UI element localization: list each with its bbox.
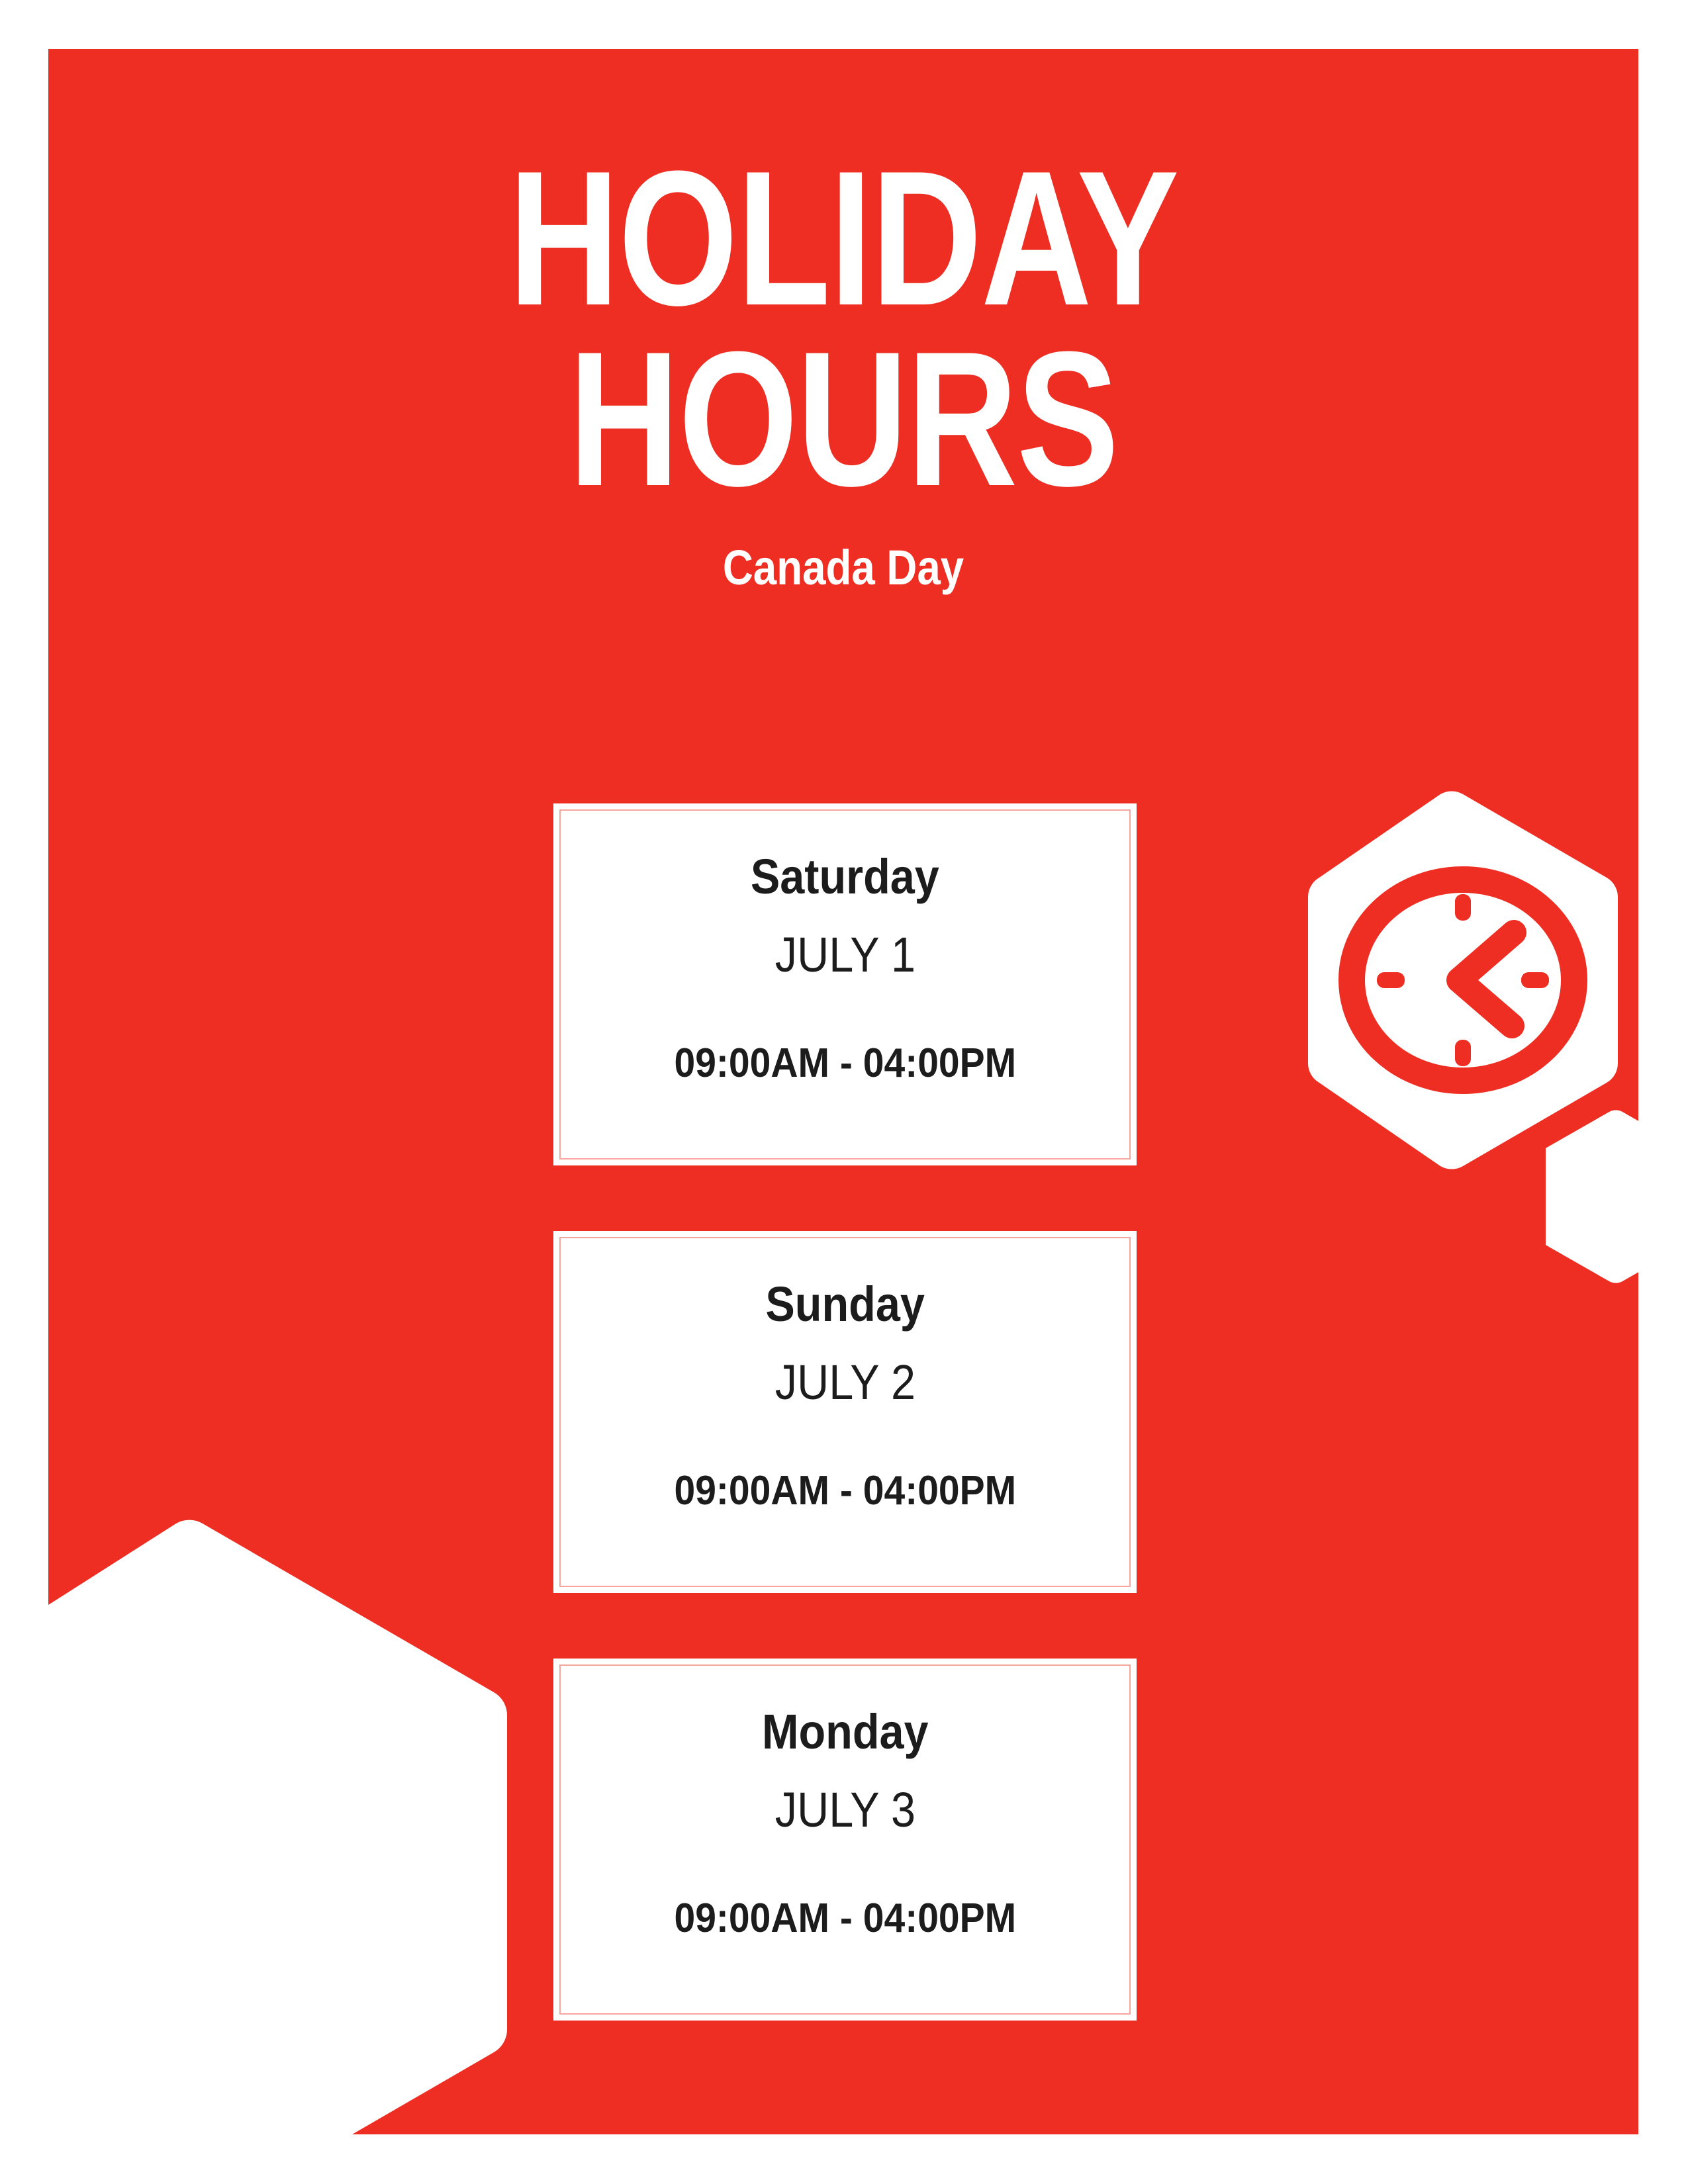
card-day-name: Monday xyxy=(762,1707,929,1756)
card-date: JULY 3 xyxy=(774,1786,915,1835)
card-hours: 09:00AM - 04:00PM xyxy=(674,1898,1016,1939)
poster-panel: HOLIDAY HOURS Canada Day Saturday JULY 1… xyxy=(48,49,1638,2134)
card-day-name: Sunday xyxy=(765,1280,925,1329)
card-hours: 09:00AM - 04:00PM xyxy=(674,1043,1016,1084)
schedule-card-list: Saturday JULY 1 09:00AM - 04:00PM Sunday… xyxy=(553,803,1137,2086)
schedule-card: Monday JULY 3 09:00AM - 04:00PM xyxy=(553,1659,1137,2021)
bottom-left-hexagon-shape xyxy=(48,1512,516,2134)
page-subtitle: Canada Day xyxy=(160,543,1527,592)
title-block: HOLIDAY HOURS Canada Day xyxy=(48,148,1638,592)
schedule-card: Sunday JULY 2 09:00AM - 04:00PM xyxy=(553,1231,1137,1593)
card-day-name: Saturday xyxy=(751,852,939,901)
page-title-line-2: HOURS xyxy=(207,329,1479,510)
schedule-card: Saturday JULY 1 09:00AM - 04:00PM xyxy=(553,803,1137,1165)
card-date: JULY 1 xyxy=(774,931,915,979)
card-date: JULY 2 xyxy=(774,1358,915,1407)
page-title-line-1: HOLIDAY xyxy=(207,148,1479,329)
small-hexagon-shape xyxy=(1546,1108,1638,1285)
card-hours: 09:00AM - 04:00PM xyxy=(674,1471,1016,1512)
